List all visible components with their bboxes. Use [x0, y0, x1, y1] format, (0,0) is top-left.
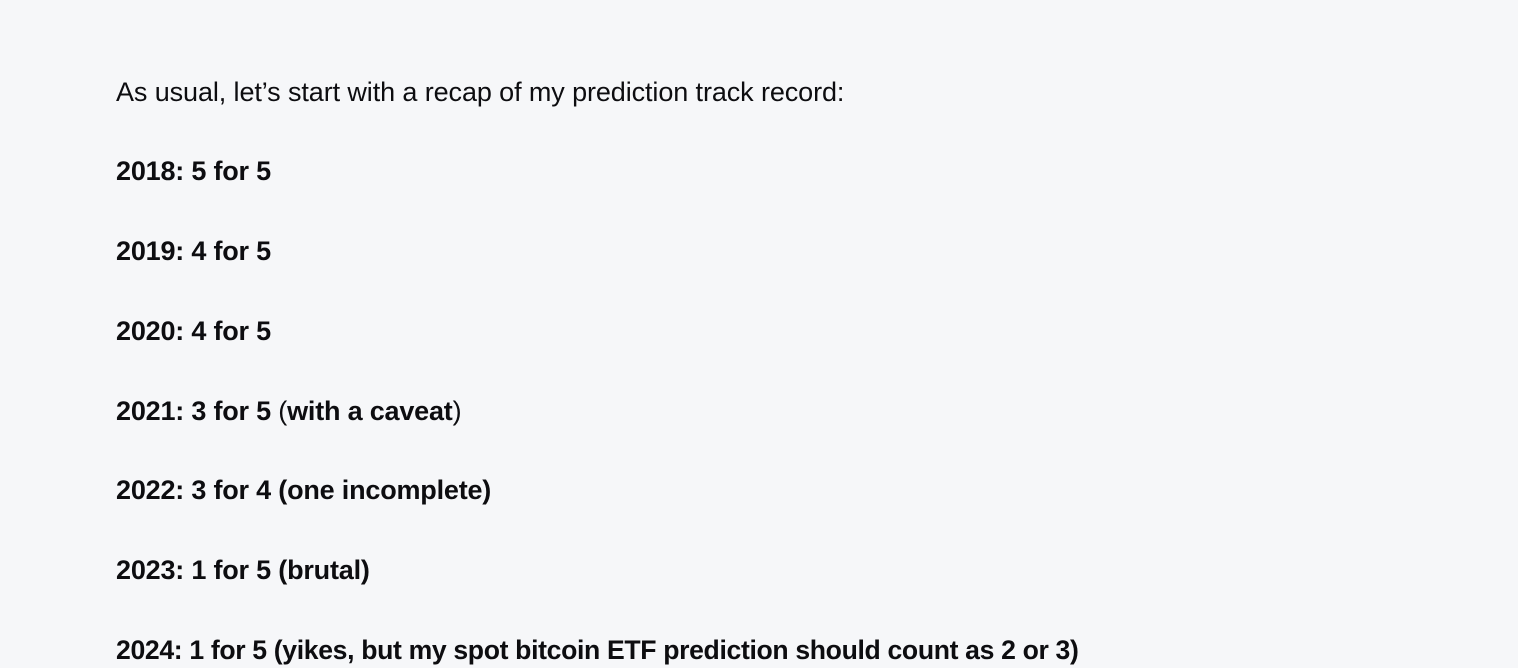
track-record-2021-note: with a caveat [287, 396, 452, 426]
track-record-line-2020: 2020: 4 for 5 [116, 313, 271, 349]
intro-paragraph: As usual, let’s start with a recap of my… [116, 74, 844, 110]
article-page: As usual, let’s start with a recap of my… [0, 0, 1518, 664]
track-record-line-2018: 2018: 5 for 5 [116, 153, 271, 189]
track-record-line-2019: 2019: 4 for 5 [116, 233, 271, 269]
track-record-line-2022: 2022: 3 for 4 (one incomplete) [116, 472, 491, 508]
track-record-2021-paren-close: ) [453, 396, 462, 426]
track-record-2021-paren-open: ( [278, 396, 287, 426]
track-record-line-2021: 2021: 3 for 5 (with a caveat) [116, 393, 461, 429]
track-record-line-2023: 2023: 1 for 5 (brutal) [116, 552, 370, 588]
track-record-2021-prefix: 2021: 3 for 5 [116, 396, 278, 426]
track-record-line-2024: 2024: 1 for 5 (yikes, but my spot bitcoi… [116, 632, 1079, 668]
